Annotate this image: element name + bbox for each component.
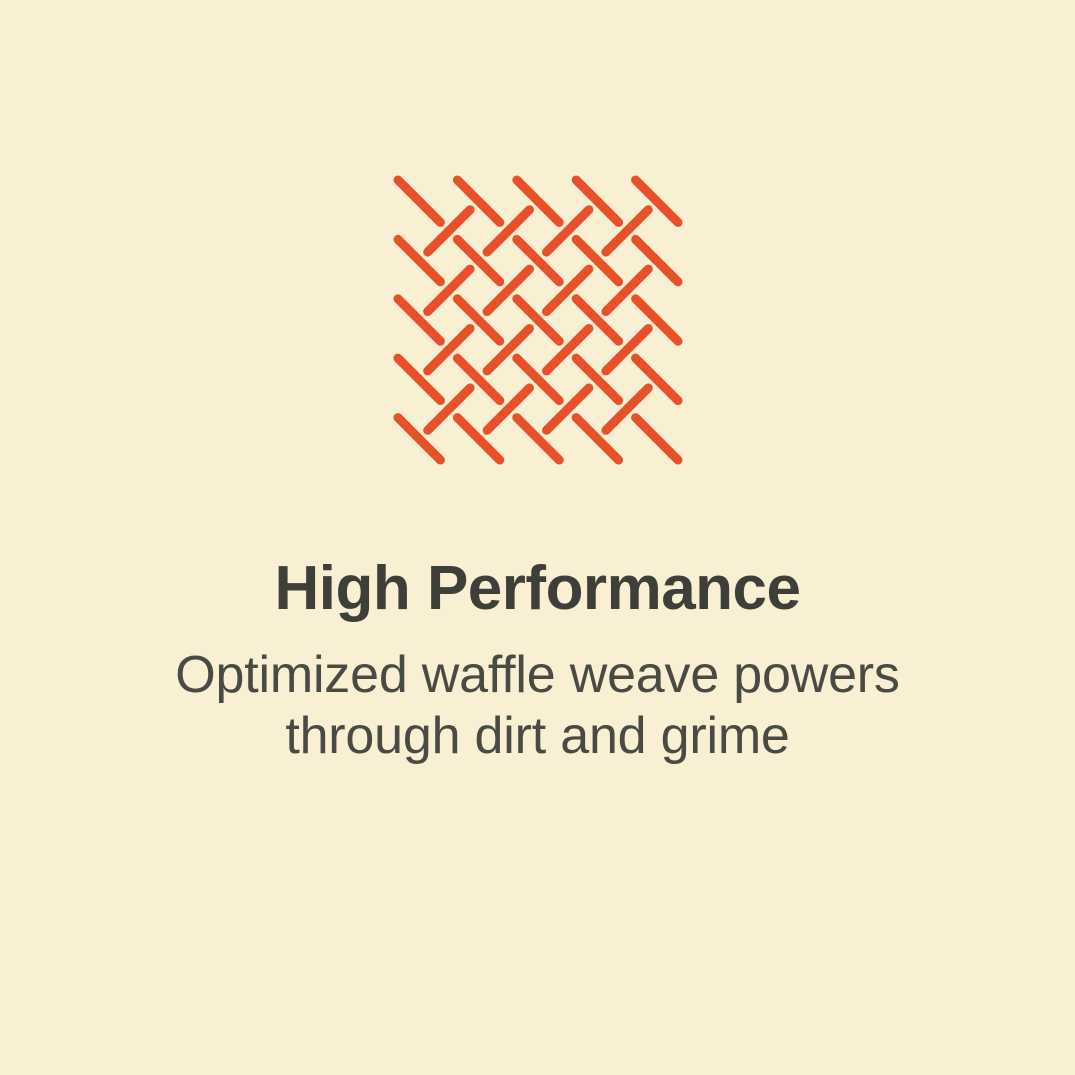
weave-stroke [397, 180, 439, 222]
feature-card: High Performance Optimized waffle weave … [0, 0, 1075, 1075]
feature-icon-container [0, 140, 1075, 500]
feature-text-block: High Performance Optimized waffle weave … [0, 556, 1075, 767]
waffle-weave-icon [358, 140, 718, 500]
feature-subhead-line-1: Optimized waffle weave powers [98, 645, 978, 706]
feature-subhead-line-2: through dirt and grime [98, 706, 978, 767]
feature-headline: High Performance [60, 556, 1015, 623]
weave-stroke [635, 418, 677, 460]
feature-subhead: Optimized waffle weave powers through di… [98, 645, 978, 767]
